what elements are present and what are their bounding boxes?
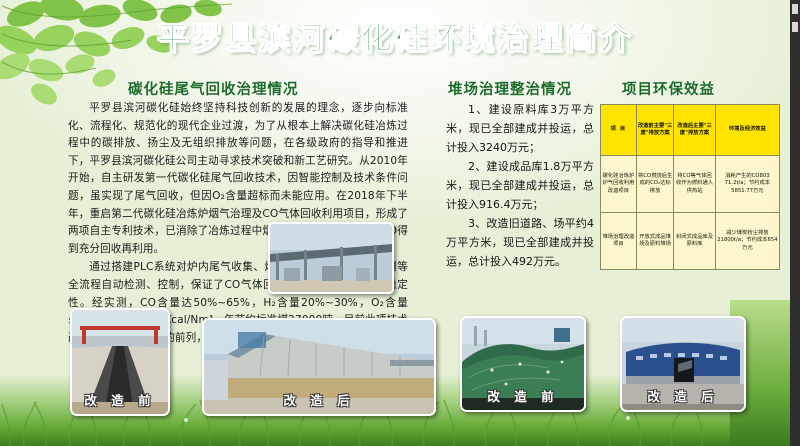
photo-road-before: 改 造 前 [70,308,170,416]
poster-root: 平罗县滨河碳化硅环境治理简介 碳化硅尾气回收治理情况 堆场治理整治情况 项目环保… [0,0,790,446]
photo-warehouse-after: 改 造 后 [202,318,436,416]
photo-building-after: 改 造 后 [620,316,746,412]
table-header-after: 改造后主要"三废"排放方案 [674,105,715,156]
section-header-benefit: 项目环保效益 [622,78,715,99]
photo-caption: 改 造 后 [622,386,744,405]
environmental-benefit-table: 项 目 改造前主要"三废"排放方案 改造后主要"三废"排放方案 环境及经济效益 … [600,104,780,270]
section-header-stockyard: 堆场治理整治情况 [448,78,572,99]
photo-caption: 改 造 前 [462,386,584,405]
table-row: 碳化硅冶炼炉炉气回收利用改造项目 将CO燃烧后生成的CO₂达标排放 将CO等气体… [601,156,780,213]
cell-after: 将CO等气体回收作为燃料通入供热站 [674,156,715,213]
cell-after: 封闭式成品库及原料库 [674,213,715,270]
photo-caption: 改 造 后 [204,390,434,409]
cell-benefit: 减少煤炭粉尘排放21800t/a；节约成本654万元 [715,213,779,270]
page-right-edge [790,0,800,446]
edge-notch-icon [792,22,798,32]
edge-notch-icon [792,4,798,14]
stockyard-item-1: 1、建设原料库3万平方米，现已全部建成并投运，总计投入3240万元； [446,100,594,157]
table-header-row: 项 目 改造前主要"三废"排放方案 改造后主要"三废"排放方案 环境及经济效益 [601,105,780,156]
cell-benefit: 消耗产生的CO803 71.2t/a；节约成本5851.77万元 [715,156,779,213]
table-header-before: 改造前主要"三废"排放方案 [636,105,674,156]
table-row: 堆场治理改造项目 开放式成品堆场及原料堆场 封闭式成品库及原料库 减少煤炭粉尘排… [601,213,780,270]
page-title-text: 平罗县滨河碳化硅环境治理简介 [157,13,633,58]
middle-column-body: 1、建设原料库3万平方米，现已全部建成并投运，总计投入3240万元； 2、建设成… [446,100,594,271]
page-title: 平罗县滨河碳化硅环境治理简介 [62,12,728,58]
stockyard-item-3: 3、改造旧道路、场平约4万平方米，现已全部建成并投运，总计投入492万元。 [446,214,594,271]
cell-before: 将CO燃烧后生成的CO₂达标排放 [636,156,674,213]
photo-caption: 改 造 前 [72,390,168,409]
photo-inline-workshop [268,222,394,294]
photo-stockpile-before: 改 造 前 [460,316,586,412]
cell-project: 堆场治理改造项目 [601,213,637,270]
section-header-tail-gas: 碳化硅尾气回收治理情况 [128,78,299,99]
table-header-benefit: 环境及经济效益 [715,105,779,156]
table-header-project: 项 目 [601,105,637,156]
stockyard-item-2: 2、建设成品库1.8万平方米，现已全部建成并投运，总计投入916.4万元； [446,157,594,214]
cell-project: 碳化硅冶炼炉炉气回收利用改造项目 [601,156,637,213]
cell-before: 开放式成品堆场及原料堆场 [636,213,674,270]
